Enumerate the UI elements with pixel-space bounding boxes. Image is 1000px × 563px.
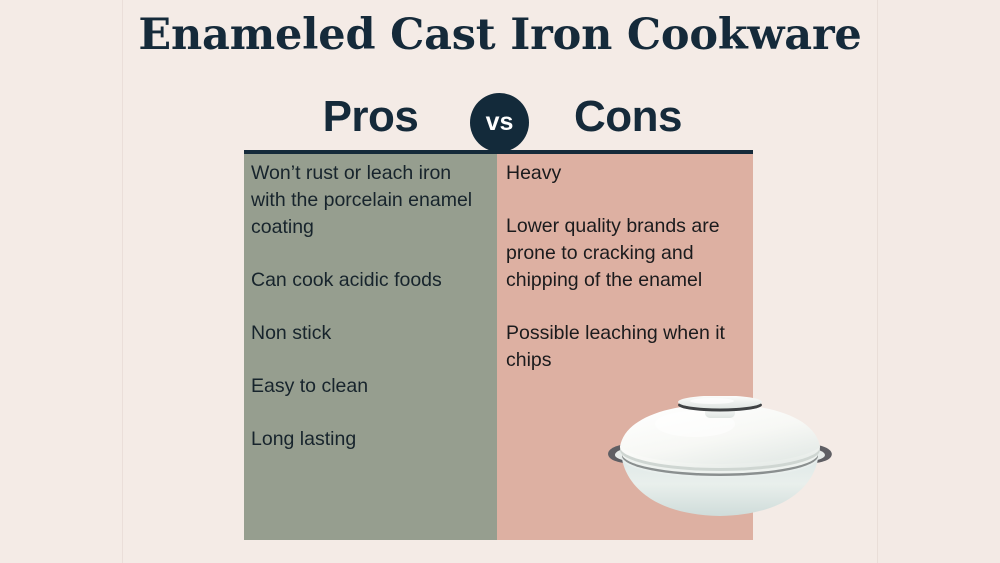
pros-list: Won’t rust or leach iron with the porcel… [244,154,497,453]
vs-badge: vs [470,93,529,152]
page-title: Enameled Cast Iron Cookware [0,11,1000,59]
pot-handle-right-icon [782,444,832,464]
pros-panel: Won’t rust or leach iron with the porcel… [244,154,497,540]
pros-column-heading: Pros [244,95,497,139]
background-right-wash [877,0,1000,563]
list-item: Possible leaching when it chips [506,320,745,374]
background-seam-left [122,0,123,563]
list-item: Lower quality brands are prone to cracki… [506,213,745,294]
cons-column-heading: Cons [503,95,753,139]
cons-panel: Heavy Lower quality brands are prone to … [497,154,753,540]
list-item: Non stick [251,320,489,347]
list-item: Heavy [506,160,745,187]
list-item: Long lasting [251,426,489,453]
list-item: Won’t rust or leach iron with the porcel… [251,160,489,241]
list-item: Easy to clean [251,373,489,400]
list-item: Can cook acidic foods [251,267,489,294]
cons-list: Heavy Lower quality brands are prone to … [497,154,753,374]
background-seam-right [877,0,878,563]
slide-canvas: Enameled Cast Iron Cookware Pros vs Cons… [0,0,1000,563]
